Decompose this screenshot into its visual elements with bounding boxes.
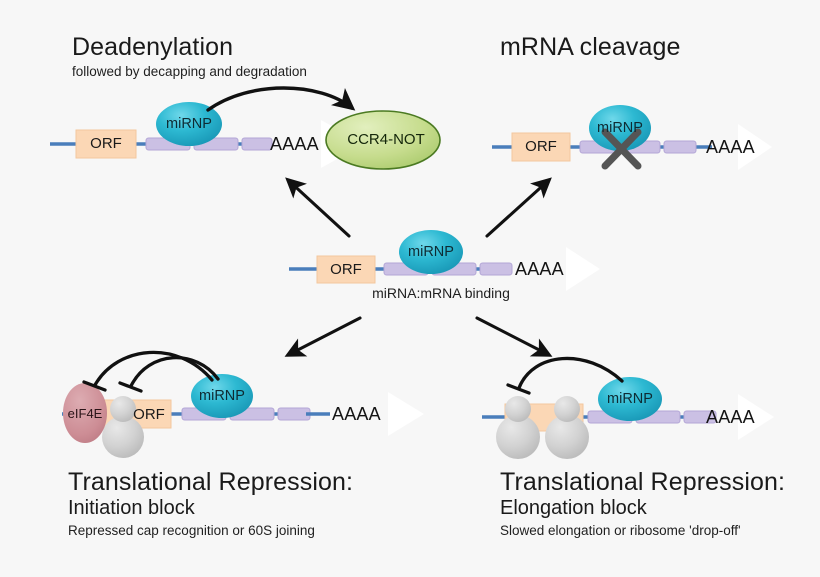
center-mirnp-label: miRNP <box>408 244 454 260</box>
center-arrow-to-elongation-block <box>477 318 549 355</box>
elongation-polya-label: AAAA <box>706 407 755 428</box>
center-caption: miRNA:mRNA binding <box>372 285 510 301</box>
initiation-mirnp-label: miRNP <box>199 388 245 404</box>
center-arrow-to-deadenylation <box>288 180 349 236</box>
initiation-polya-tail-arrow <box>388 392 424 436</box>
elongation-mirnp-label: miRNP <box>607 391 653 407</box>
center-orf-label: ORF <box>330 261 362 278</box>
center-arrow-to-cleavage <box>487 180 549 236</box>
center-polya-label: AAAA <box>515 259 564 280</box>
deadenylation-orf-label: ORF <box>90 135 122 152</box>
cleavage-title: mRNA cleavage <box>500 33 681 62</box>
initiation-polya-label: AAAA <box>332 404 381 425</box>
cleavage-mirnp-label: miRNP <box>597 120 643 136</box>
eif4e-label: eIF4E <box>68 406 103 421</box>
deadenylation-title: Deadenylation <box>72 33 233 62</box>
deadenylation-mirnp-label: miRNP <box>166 116 212 132</box>
center-mrna <box>289 256 512 283</box>
elongation-title: Translational Repression: <box>500 468 785 497</box>
deadenylation-recruitment-arrow <box>208 88 352 110</box>
figure-canvas: Deadenylation followed by decapping and … <box>0 0 820 577</box>
initiation-orf-label: ORF <box>133 406 165 423</box>
deadenylation-subtitle: followed by decapping and degradation <box>72 64 307 79</box>
cleavage-polya-label: AAAA <box>706 137 755 158</box>
ccr4-not-label: CCR4-NOT <box>347 131 425 148</box>
initiation-subtitle: Initiation block <box>68 497 195 520</box>
initiation-inhibition-arrow-eif4e <box>84 352 212 390</box>
center-polya-tail-arrow <box>566 247 600 291</box>
deadenylation-polya-label: AAAA <box>270 134 319 155</box>
elongation-detail: Slowed elongation or ribosome 'drop-off' <box>500 523 741 538</box>
initiation-title: Translational Repression: <box>68 468 353 497</box>
cleavage-orf-label: ORF <box>525 138 557 155</box>
initiation-detail: Repressed cap recognition or 60S joining <box>68 523 315 538</box>
elongation-subtitle: Elongation block <box>500 497 647 520</box>
center-arrow-to-initiation-block <box>288 318 360 355</box>
